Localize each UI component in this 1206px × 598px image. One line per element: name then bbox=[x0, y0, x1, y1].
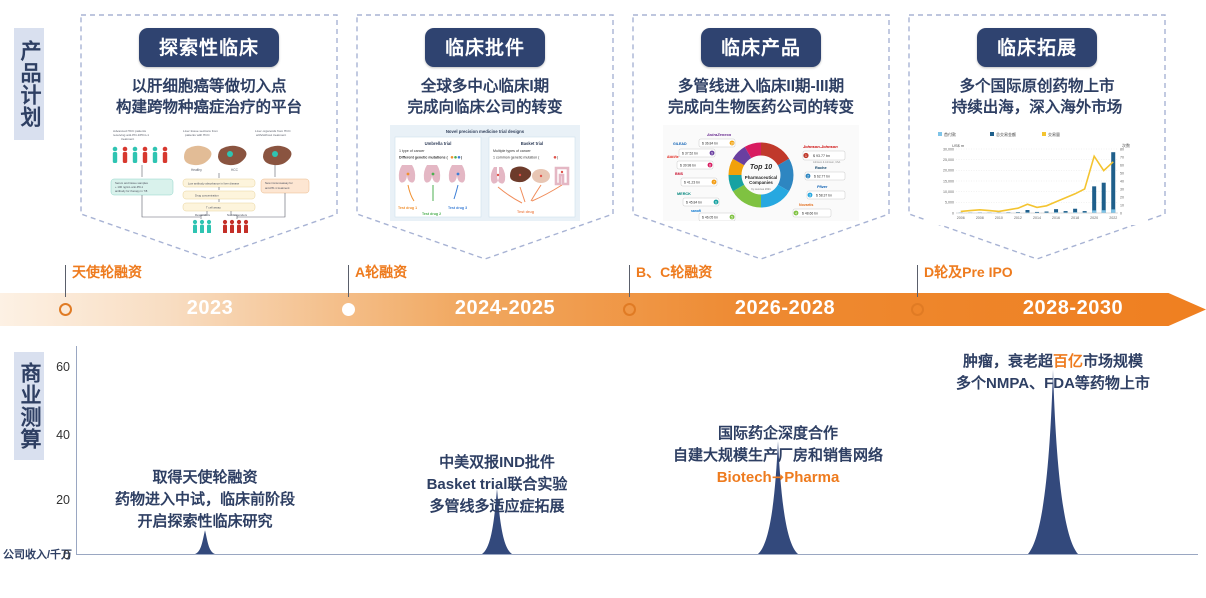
funding-round-3: B、C轮融资 bbox=[636, 262, 712, 282]
svg-text:$ 62.77 bn: $ 62.77 bn bbox=[814, 174, 830, 178]
phase-2-subtitle: 全球多中心临床I期 完成向临床公司的转变 bbox=[407, 76, 562, 119]
svg-text:$ 36.84 bn: $ 36.84 bn bbox=[702, 141, 718, 145]
timeline-stem-4 bbox=[917, 265, 918, 297]
revenue-note-2-line-1: 中美双报IND批件 bbox=[377, 452, 617, 474]
revenue-note-2-line-3: 多管线多适应症拓展 bbox=[377, 496, 617, 518]
svg-text:Umbrella trial: Umbrella trial bbox=[425, 141, 452, 146]
licensing-deals-chart: 首付款总交易金额交易量 US$ m 次数 05,00010,00015,0002… bbox=[926, 125, 1148, 225]
timeline-period-1: 2023 bbox=[140, 297, 280, 320]
svg-text:GILEAD: GILEAD bbox=[673, 142, 687, 146]
svg-text:2014: 2014 bbox=[1033, 216, 1041, 220]
svg-text:AstraZeneca: AstraZeneca bbox=[706, 132, 732, 137]
phase-3-title: 临床产品 bbox=[701, 28, 821, 67]
revenue-note-4: 肿瘤，衰老超百亿市场规模 多个NMPA、FDA等药物上市 bbox=[893, 351, 1206, 395]
svg-text:25,000: 25,000 bbox=[943, 158, 954, 162]
revenue-note-1-line-1: 取得天使轮融资 bbox=[85, 467, 325, 489]
svg-text:0: 0 bbox=[1120, 211, 1122, 215]
section-label-product-plan: 产品计划 bbox=[14, 28, 44, 140]
phase-3-subtitle-line-2: 完成向生物医药公司的转变 bbox=[668, 97, 854, 118]
svg-text:Non-responders: Non-responders bbox=[227, 213, 248, 217]
phase-4-subtitle-line-2: 持续出海，深入海外市场 bbox=[952, 97, 1123, 118]
chart-bar bbox=[1092, 186, 1096, 213]
trial-design-icon: Novel precision medicine trial designs U… bbox=[390, 125, 580, 221]
revenue-note-1-line-3: 开启探索性临床研究 bbox=[85, 511, 325, 533]
phase-1-title: 探索性临床 bbox=[139, 28, 279, 67]
svg-text:sanofi: sanofi bbox=[691, 209, 701, 213]
legend-label: 总交易金额 bbox=[996, 131, 1016, 137]
svg-text:Drug concentration: Drug concentration bbox=[195, 193, 219, 197]
svg-text:Johnson-Johnson: Johnson-Johnson bbox=[803, 144, 838, 149]
chart-x-ticks: 200620082010201220142016201820202022 bbox=[957, 216, 1117, 220]
phase-4-title: 临床拓展 bbox=[977, 28, 1097, 67]
phase-1-subtitle-line-1: 以肝细胞癌等做切入点 bbox=[116, 76, 302, 97]
svg-text:20,000: 20,000 bbox=[943, 168, 954, 172]
revenue-note-4-prefix: 肿瘤，衰老超 bbox=[963, 353, 1053, 370]
svg-text:2020: 2020 bbox=[1090, 216, 1098, 220]
svg-text:Companies: Companies bbox=[749, 180, 773, 185]
svg-text:2022: 2022 bbox=[1109, 216, 1117, 220]
svg-text:$ 58.37 bn: $ 58.37 bn bbox=[816, 193, 832, 197]
svg-text:1: 1 bbox=[805, 154, 807, 158]
phase-3-subtitle: 多管线进入临床II期-III期 完成向生物医药公司的转变 bbox=[668, 76, 854, 119]
svg-text:$ 41.23 bn: $ 41.23 bn bbox=[684, 180, 700, 184]
phase-2-artwork: Novel precision medicine trial designs U… bbox=[390, 125, 580, 226]
svg-text:Johnson & Johnson, USA: Johnson & Johnson, USA bbox=[813, 161, 841, 164]
phase-card-2[interactable]: 临床批件 全球多中心临床I期 完成向临床公司的转变 Novel precisio… bbox=[356, 14, 614, 260]
svg-text:2006: 2006 bbox=[957, 216, 965, 220]
svg-text:Test drug: Test drug bbox=[517, 210, 535, 214]
legend-swatch bbox=[938, 132, 942, 136]
legend-label: 首付款 bbox=[944, 131, 956, 137]
svg-text:$ 37.52 bn: $ 37.52 bn bbox=[682, 151, 698, 155]
svg-text:with/without treatment: with/without treatment bbox=[256, 133, 286, 137]
phase-4-subtitle: 多个国际原创药物上市 持续出海，深入海外市场 bbox=[952, 76, 1123, 119]
svg-text:Healthy: Healthy bbox=[191, 168, 202, 172]
svg-text:Test drug 1: Test drug 1 bbox=[398, 206, 417, 210]
phase-1-artwork: Advanced HCC patients receiving anti-PD-… bbox=[103, 125, 315, 238]
svg-text:Responders: Responders bbox=[195, 213, 211, 217]
svg-text:$ 45.84 bn: $ 45.84 bn bbox=[686, 200, 702, 204]
svg-text:5: 5 bbox=[731, 215, 733, 219]
funding-round-2: A轮融资 bbox=[355, 262, 407, 282]
svg-text:HCC: HCC bbox=[231, 168, 239, 172]
timeline-stem-2 bbox=[348, 265, 349, 297]
timeline-period-3: 2026-2028 bbox=[700, 297, 870, 320]
timeline-dot-3[interactable] bbox=[623, 303, 636, 316]
svg-text:Novartis: Novartis bbox=[799, 203, 813, 207]
chart-y-ticks-right: 01020304050607080 bbox=[1120, 147, 1124, 215]
legend-swatch bbox=[990, 132, 994, 136]
svg-text:by revenue 2021: by revenue 2021 bbox=[751, 187, 771, 191]
svg-text:70: 70 bbox=[1120, 155, 1124, 159]
revenue-note-3-accent: Biotech➞Pharma bbox=[628, 467, 928, 489]
svg-text:Roche: Roche bbox=[815, 166, 827, 170]
phase-2-subtitle-line-2: 完成向临床公司的转变 bbox=[407, 97, 562, 118]
svg-text:T cell assay: T cell assay bbox=[206, 205, 221, 209]
svg-text:Low antibody absorbance in liv: Low antibody absorbance in liver disease bbox=[188, 181, 240, 185]
revenue-note-3-line-1: 国际药企深度合作 bbox=[628, 423, 928, 445]
timeline-dot-1[interactable] bbox=[59, 303, 72, 316]
revenue-note-4-suffix: 市场规模 bbox=[1083, 353, 1143, 370]
phase-2-title: 临床批件 bbox=[425, 28, 545, 67]
phase-card-3[interactable]: 临床产品 多管线进入临床II期-III期 完成向生物医药公司的转变 bbox=[632, 14, 890, 260]
svg-text:6: 6 bbox=[715, 200, 717, 204]
top10-pharma-donut-icon: Top 10 Pharmaceutical Companies by reven… bbox=[663, 125, 859, 221]
revenue-note-2-line-2: Basket trial联合实验 bbox=[377, 474, 617, 496]
hcc-schematic-icon: Advanced HCC patients receiving anti-PD-… bbox=[103, 125, 315, 233]
revenue-peak bbox=[1028, 370, 1078, 554]
svg-text:10,000: 10,000 bbox=[943, 190, 954, 194]
svg-text:1 common genetic mutation (: 1 common genetic mutation ( bbox=[493, 155, 540, 159]
svg-text:Basket trial: Basket trial bbox=[521, 141, 544, 146]
svg-text:2012: 2012 bbox=[1014, 216, 1022, 220]
phase-card-4[interactable]: 临床拓展 多个国际原创药物上市 持续出海，深入海外市场 首付款总交易金额交易量 … bbox=[908, 14, 1166, 260]
svg-text:30,000: 30,000 bbox=[943, 147, 954, 151]
svg-text:8: 8 bbox=[709, 163, 711, 167]
phase-2-subtitle-line-1: 全球多中心临床I期 bbox=[407, 76, 562, 97]
svg-text:10: 10 bbox=[730, 141, 734, 145]
svg-text:2016: 2016 bbox=[1052, 216, 1060, 220]
chart-bar bbox=[1092, 210, 1096, 213]
svg-text:patients with HCC: patients with HCC bbox=[185, 133, 211, 137]
svg-text:Pfizer: Pfizer bbox=[817, 185, 828, 189]
svg-text:Multiple types of cancer: Multiple types of cancer bbox=[493, 149, 532, 153]
svg-text:30: 30 bbox=[1120, 187, 1124, 191]
svg-text:2008: 2008 bbox=[976, 216, 984, 220]
svg-text:10: 10 bbox=[1120, 203, 1124, 207]
svg-text:40: 40 bbox=[1120, 179, 1124, 183]
phase-4-artwork: 首付款总交易金额交易量 US$ m 次数 05,00010,00015,0002… bbox=[926, 125, 1148, 230]
chart-bar bbox=[1111, 152, 1115, 213]
svg-text:2018: 2018 bbox=[1071, 216, 1079, 220]
phase-1-subtitle: 以肝细胞癌等做切入点 构建跨物种癌症治疗的平台 bbox=[116, 76, 302, 119]
svg-text:80: 80 bbox=[1120, 147, 1124, 151]
svg-text:$ 93.77 bn: $ 93.77 bn bbox=[813, 154, 830, 158]
phase-card-1[interactable]: 探索性临床 以肝细胞癌等做切入点 构建跨物种癌症治疗的平台 Advanced H… bbox=[80, 14, 338, 260]
timeline-dot-4[interactable] bbox=[911, 303, 924, 316]
svg-text:treatment: treatment bbox=[121, 137, 134, 141]
phase-4-subtitle-line-1: 多个国际原创药物上市 bbox=[952, 76, 1123, 97]
timeline-period-4: 2028-2030 bbox=[988, 297, 1158, 320]
legend-swatch bbox=[1042, 132, 1046, 136]
revenue-note-3-line-2: 自建大规模生产厂房和销售网络 bbox=[628, 445, 928, 467]
chart-bar bbox=[1111, 209, 1115, 213]
svg-text:New immunoassay for: New immunoassay for bbox=[265, 181, 293, 185]
svg-text:antibody for therapy in 7/8: antibody for therapy in 7/8 bbox=[115, 189, 148, 193]
svg-text:): ) bbox=[557, 155, 558, 159]
svg-text:4: 4 bbox=[795, 211, 797, 215]
revenue-note-4-accent: 百亿 bbox=[1053, 353, 1083, 370]
phase-1-subtitle-line-2: 构建跨物种癌症治疗的平台 bbox=[116, 97, 302, 118]
timeline-dot-2[interactable] bbox=[342, 303, 355, 316]
svg-text:3: 3 bbox=[809, 193, 811, 197]
legend-label: 交易量 bbox=[1048, 131, 1060, 137]
svg-text:1 type of cancer: 1 type of cancer bbox=[399, 149, 425, 153]
revenue-note-4-line-1: 肿瘤，衰老超百亿市场规模 bbox=[893, 351, 1206, 373]
timeline-period-2: 2024-2025 bbox=[420, 297, 590, 320]
revenue-note-1-line-2: 药物进入中试，临床前阶段 bbox=[85, 489, 325, 511]
svg-text:$ 39.98 bn: $ 39.98 bn bbox=[680, 163, 696, 167]
svg-text:Test drug 2: Test drug 2 bbox=[422, 212, 441, 216]
svg-text:5,000: 5,000 bbox=[945, 200, 954, 204]
svg-text:50: 50 bbox=[1120, 171, 1124, 175]
svg-text:7: 7 bbox=[713, 180, 715, 184]
svg-text:$ 46.05 bn: $ 46.05 bn bbox=[702, 215, 718, 219]
revenue-note-3: 国际药企深度合作 自建大规模生产厂房和销售网络 Biotech➞Pharma bbox=[628, 423, 928, 488]
svg-text:Different genetic mutations (: Different genetic mutations ( bbox=[399, 155, 449, 159]
svg-text:Top 10: Top 10 bbox=[750, 164, 772, 171]
svg-text:$ 48.66 bn: $ 48.66 bn bbox=[802, 211, 818, 215]
svg-text:Novel precision medicine trial: Novel precision medicine trial designs bbox=[446, 129, 525, 134]
svg-text:Test drug 3: Test drug 3 bbox=[448, 206, 467, 210]
phase-3-subtitle-line-1: 多管线进入临床II期-III期 bbox=[668, 76, 854, 97]
funding-round-1: 天使轮融资 bbox=[72, 262, 142, 282]
svg-text:MERCK: MERCK bbox=[677, 192, 691, 196]
svg-text:BMS: BMS bbox=[675, 172, 684, 176]
funding-round-4: D轮及Pre IPO bbox=[924, 262, 1013, 282]
timeline-stem-1 bbox=[65, 265, 66, 297]
svg-text:AbbVie: AbbVie bbox=[667, 155, 679, 159]
svg-text:20: 20 bbox=[1120, 195, 1124, 199]
svg-text:2: 2 bbox=[807, 174, 809, 178]
svg-text:2010: 2010 bbox=[995, 216, 1003, 220]
svg-text:9: 9 bbox=[711, 151, 713, 155]
svg-text:anti-PD-1 treatment: anti-PD-1 treatment bbox=[265, 186, 290, 190]
chart-bar bbox=[1102, 210, 1106, 213]
revenue-peak bbox=[195, 530, 215, 554]
revenue-note-2: 中美双报IND批件 Basket trial联合实验 多管线多适应症拓展 bbox=[377, 452, 617, 517]
svg-text:15,000: 15,000 bbox=[943, 179, 954, 183]
revenue-note-1: 取得天使轮融资 药物进入中试，临床前阶段 开启探索性临床研究 bbox=[85, 467, 325, 532]
timeline-stem-3 bbox=[629, 265, 630, 297]
phase-3-artwork: Top 10 Pharmaceutical Companies by reven… bbox=[663, 125, 859, 226]
svg-text:60: 60 bbox=[1120, 163, 1124, 167]
chart-bar bbox=[1102, 182, 1106, 212]
revenue-note-4-line-2: 多个NMPA、FDA等药物上市 bbox=[893, 373, 1206, 395]
svg-text:0: 0 bbox=[952, 211, 954, 215]
